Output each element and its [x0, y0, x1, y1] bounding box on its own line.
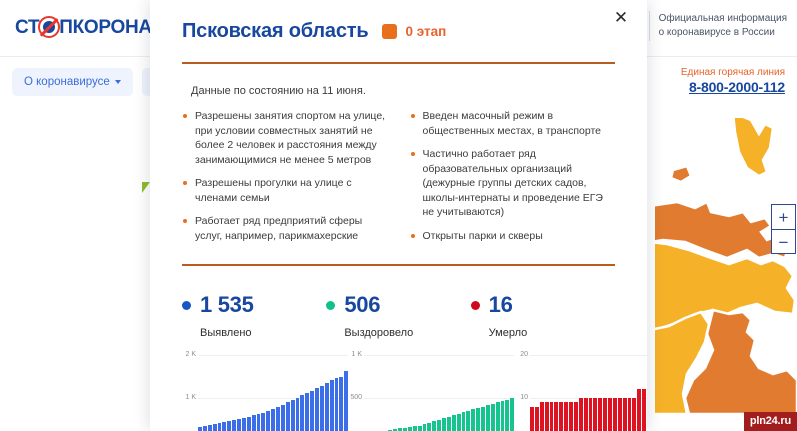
chart-y-tick-label: 1 K — [351, 351, 362, 358]
restrictions-right-column: Введен масочный режим в общественных мес… — [410, 109, 616, 252]
list-item: Введен масочный режим в общественных мес… — [410, 109, 616, 138]
stat-value: 16 — [489, 292, 513, 318]
chart-bar[interactable] — [569, 402, 573, 431]
chart-bar[interactable] — [579, 398, 583, 431]
stat-deaths: 16 Умерло — [471, 292, 615, 339]
chart-bar[interactable] — [642, 389, 646, 431]
chart-bar[interactable] — [437, 420, 441, 431]
chart-bar[interactable] — [545, 402, 549, 431]
chart-bar[interactable] — [471, 409, 475, 431]
chart-bar[interactable] — [603, 398, 607, 431]
chart-bars — [364, 355, 514, 431]
chart-bar[interactable] — [481, 407, 485, 431]
modal-content: Псковская область 0 этап Данные по состо… — [150, 0, 647, 431]
map-zoom-controls[interactable]: + − — [771, 204, 796, 254]
chart-bars — [530, 355, 647, 431]
list-item: Частично работает ряд образовательных ор… — [410, 147, 616, 220]
hotline-phone-link[interactable]: 8-800-2000-112 — [681, 79, 785, 96]
chart-bar[interactable] — [476, 408, 480, 431]
nav-item-about-coronavirus[interactable]: О коронавирусе — [12, 68, 133, 96]
chart-bar[interactable] — [574, 402, 578, 431]
chart-bar[interactable] — [423, 424, 427, 431]
chart-bar[interactable] — [486, 405, 490, 431]
chart-bar[interactable] — [218, 423, 222, 431]
chart-bar[interactable] — [452, 415, 456, 431]
decorative-green-marker — [142, 182, 150, 193]
list-item-text: Открыты парки и скверы — [423, 230, 543, 242]
chart-bar[interactable] — [408, 427, 412, 431]
bullet-dot-icon — [183, 114, 187, 118]
chart-bars — [198, 355, 348, 431]
list-item: Разрешены прогулки на улице с членами се… — [182, 176, 388, 205]
chart-bar[interactable] — [339, 377, 343, 431]
chart-bar[interactable] — [530, 407, 534, 431]
map-zoom-out-button[interactable]: − — [772, 230, 795, 255]
chart-bar[interactable] — [325, 383, 329, 431]
stat-dot-icon — [471, 301, 480, 310]
chart-bar[interactable] — [589, 398, 593, 431]
vertical-divider — [649, 11, 650, 41]
chart-bar[interactable] — [296, 398, 300, 431]
chart-bar[interactable] — [598, 398, 602, 431]
chart-bar[interactable] — [593, 398, 597, 431]
restrictions-columns: Разрешены занятия спортом на улице, при … — [182, 109, 615, 252]
chart-bar[interactable] — [310, 391, 314, 431]
virus-crossed-icon — [38, 16, 60, 38]
chart-bar[interactable] — [637, 389, 641, 431]
chart-bar[interactable] — [252, 415, 256, 431]
chart-bar[interactable] — [222, 422, 226, 431]
chart-bar[interactable] — [613, 398, 617, 431]
chart-bar[interactable] — [584, 398, 588, 431]
list-item-text: Частично работает ряд образовательных ор… — [423, 148, 603, 218]
list-item-text: Разрешены занятия спортом на улице, при … — [195, 110, 385, 166]
chart-y-tick-label: 1 K — [185, 394, 196, 401]
chart-bar[interactable] — [320, 386, 324, 431]
stat-label: Выявлено — [200, 327, 326, 339]
chart-y-tick-label: 500 — [350, 394, 362, 401]
header-divider — [182, 62, 615, 64]
chart-bar[interactable] — [305, 393, 309, 431]
restrictions-left-column: Разрешены занятия спортом на улице, при … — [182, 109, 388, 252]
chart-bar[interactable] — [261, 413, 265, 431]
map-zoom-in-button[interactable]: + — [772, 205, 795, 230]
chart-bar[interactable] — [232, 420, 236, 431]
chart-bar[interactable] — [315, 388, 319, 431]
modal-header: Псковская область 0 этап — [182, 0, 615, 43]
chevron-down-icon — [115, 80, 121, 84]
as-of-text: Данные по состоянию на 11 июня. — [182, 85, 615, 97]
list-item: Открыты парки и скверы — [410, 229, 616, 244]
chart-bar[interactable] — [632, 398, 636, 431]
chart-bar[interactable] — [466, 411, 470, 431]
logo-prefix: СТ — [15, 17, 39, 38]
chart-bar[interactable] — [247, 417, 251, 431]
list-item-text: Разрешены прогулки на улице с членами се… — [195, 177, 352, 204]
chart-bar[interactable] — [198, 427, 202, 431]
chart-bar[interactable] — [208, 425, 212, 431]
chart-bar[interactable] — [257, 414, 261, 431]
list-item-text: Работает ряд предприятий сферы услуг, на… — [195, 215, 362, 242]
list-item: Разрешены занятия спортом на улице, при … — [182, 109, 388, 167]
stats-row: 1 535 Выявлено 506 Выздоровело 16 — [182, 292, 615, 339]
stat-dot-icon — [326, 301, 335, 310]
chart-bar[interactable] — [281, 405, 285, 431]
charts-row: 01 K2 K 13 мая12 июня 05001 K 13 мая12 и… — [182, 355, 615, 431]
close-icon[interactable]: ✕ — [609, 6, 633, 30]
stat-value: 1 535 — [200, 292, 254, 318]
chart-bar[interactable] — [462, 412, 466, 431]
chart-bar[interactable] — [618, 398, 622, 431]
chart-bar[interactable] — [276, 407, 280, 431]
chart-plot: 01020 — [530, 355, 647, 431]
chart-bar[interactable] — [442, 418, 446, 431]
chart-bar[interactable] — [496, 402, 500, 431]
chart-bar[interactable] — [608, 398, 612, 431]
chart-y-tick-label: 2 K — [185, 351, 196, 358]
chart-bar[interactable] — [564, 402, 568, 431]
bullet-dot-icon — [411, 234, 415, 238]
hotline-block: Единая горячая линия 8-800-2000-112 — [681, 66, 785, 96]
gov-text: Официальная информация о коронавирусе в … — [659, 12, 787, 40]
chart-plot: 05001 K — [364, 355, 514, 431]
chart-bar[interactable] — [427, 423, 431, 431]
chart-bar[interactable] — [535, 407, 539, 431]
chart-bar[interactable] — [628, 398, 632, 431]
map-svg — [655, 118, 797, 414]
page-title: Псковская область — [182, 20, 368, 43]
chart-bar[interactable] — [266, 411, 270, 431]
chart-bar[interactable] — [447, 417, 451, 431]
chart-bar[interactable] — [242, 418, 246, 431]
chart-bar[interactable] — [623, 398, 627, 431]
chart-bar[interactable] — [286, 402, 290, 431]
screenshot-root: СТ ПКОРОНАВИ МИНИСТЕРСТВО ЗДРАВООХРАНЕНИ… — [0, 0, 797, 431]
stat-confirmed: 1 535 Выявлено — [182, 292, 326, 339]
nav-item-label: О коронавирусе — [24, 76, 110, 88]
chart-bar[interactable] — [540, 402, 544, 431]
chart-bar[interactable] — [491, 404, 495, 431]
chart-bar[interactable] — [559, 402, 563, 431]
chart-bar[interactable] — [330, 380, 334, 431]
stat-dot-icon — [182, 301, 191, 310]
chart-bar[interactable] — [554, 402, 558, 431]
chart-recovered[interactable]: 05001 K 13 мая12 июня — [348, 355, 514, 431]
stat-recovered: 506 Выздоровело — [326, 292, 470, 339]
chart-bar[interactable] — [291, 400, 295, 431]
stat-value: 506 — [344, 292, 380, 318]
chart-bar[interactable] — [203, 426, 207, 431]
chart-confirmed[interactable]: 01 K2 K 13 мая12 июня — [182, 355, 348, 431]
bullet-dot-icon — [183, 219, 187, 223]
chart-bar[interactable] — [227, 421, 231, 431]
chart-bar[interactable] — [413, 426, 417, 431]
chart-bar[interactable] — [432, 421, 436, 431]
chart-bar[interactable] — [335, 378, 339, 431]
gov-text-line1: Официальная информация — [659, 12, 787, 26]
chart-bar[interactable] — [237, 419, 241, 431]
hotline-label: Единая горячая линия — [681, 66, 785, 79]
chart-bar[interactable] — [505, 400, 509, 431]
bullet-dot-icon — [411, 152, 415, 156]
watermark: pln24.ru — [744, 412, 797, 431]
russia-region-map[interactable]: + − — [655, 118, 797, 414]
list-item-text: Введен масочный режим в общественных мес… — [423, 110, 602, 137]
chart-bar[interactable] — [271, 409, 275, 431]
stat-label: Выздоровело — [344, 327, 470, 339]
bullet-dot-icon — [411, 114, 415, 118]
bullet-dot-icon — [183, 181, 187, 185]
chart-bar[interactable] — [501, 401, 505, 431]
list-item: Работает ряд предприятий сферы услуг, на… — [182, 214, 388, 243]
chart-bar[interactable] — [300, 395, 304, 431]
gov-text-line2: о коронавирусе в России — [659, 26, 787, 40]
chart-bar[interactable] — [457, 414, 461, 431]
chart-y-tick-label: 10 — [520, 394, 528, 401]
chart-bar[interactable] — [550, 402, 554, 431]
chart-bar[interactable] — [418, 426, 422, 431]
stat-label: Умерло — [489, 327, 615, 339]
chart-deaths[interactable]: 01020 13 мая12 июня — [514, 355, 647, 431]
chart-plot: 01 K2 K — [198, 355, 348, 431]
region-detail-modal: ✕ Псковская область 0 этап Данные по сос… — [150, 0, 647, 431]
status-badge: 0 этап — [382, 24, 446, 39]
stage-label: 0 этап — [405, 24, 446, 39]
chart-bar[interactable] — [213, 424, 217, 431]
stats-divider — [182, 264, 615, 266]
chart-y-tick-label: 20 — [520, 351, 528, 358]
stage-color-swatch — [382, 24, 397, 39]
